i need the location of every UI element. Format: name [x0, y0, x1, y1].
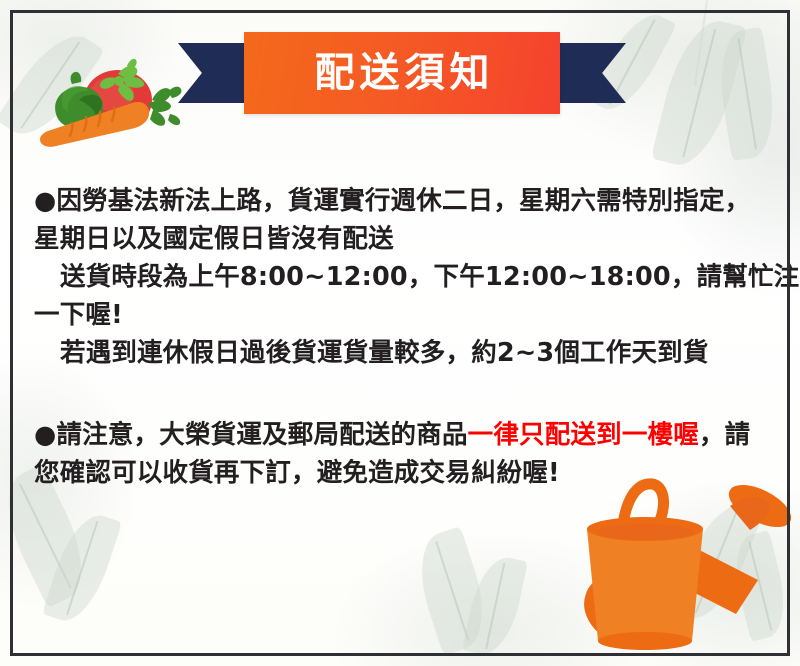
notice-line: 若遇到連休假日過後貨運貨量較多，約2~3個工作天到貨 — [34, 334, 774, 372]
notice-line: 送貨時段為上午8:00~12:00，下午12:00~18:00，請幫忙注意 — [34, 258, 774, 296]
notice-paragraph-1: ●因勞基法新法上路，貨運實行週休二日，星期六需特別指定， 星期日以及國定假日皆沒… — [34, 182, 774, 372]
notice-line-tail: ，請 — [699, 420, 750, 450]
page-title: 配送須知 — [310, 53, 495, 93]
notice-paragraph-2: ●請注意，大榮貨運及郵局配送的商品一律只配送到一樓喔，請 您確認可以收貨再下訂，… — [34, 416, 774, 492]
can-body — [587, 529, 703, 641]
notice-body: ●因勞基法新法上路，貨運實行週休二日，星期六需特別指定， 星期日以及國定假日皆沒… — [34, 182, 774, 498]
notice-line: 一下喔! — [34, 296, 774, 334]
carrot-leaf-icon — [148, 87, 181, 126]
ribbon-center: 配送須知 — [244, 32, 560, 114]
notice-line: ●因勞基法新法上路，貨運實行週休二日，星期六需特別指定， — [34, 182, 774, 220]
notice-line: ●請注意，大榮貨運及郵局配送的商品一律只配送到一樓喔，請 — [34, 416, 774, 454]
can-rim-inner — [596, 524, 694, 540]
vegetables-illustration — [26, 58, 192, 158]
notice-line: 星期日以及國定假日皆沒有配送 — [34, 220, 774, 258]
can-base — [598, 632, 692, 650]
notice-line-lead: ●請注意，大榮貨運及郵局配送的商品 — [34, 420, 468, 450]
delivery-notice-graphic: 配送須知 ●因勞基法新法上路，貨運實行週休二日，星期六需特別指定， 星期日以及國… — [0, 0, 800, 666]
background-leaf — [651, 13, 747, 174]
background-leaf — [407, 526, 497, 656]
notice-highlight: 一律只配送到一樓喔 — [468, 420, 699, 450]
title-banner: 配送須知 — [178, 32, 626, 114]
background-leaf — [462, 552, 528, 659]
background-stem — [694, 0, 708, 85]
notice-line: 您確認可以收貨再下訂，避免造成交易糾紛喔! — [34, 454, 774, 492]
background-leaf — [712, 27, 781, 161]
background-leaf — [42, 507, 122, 628]
